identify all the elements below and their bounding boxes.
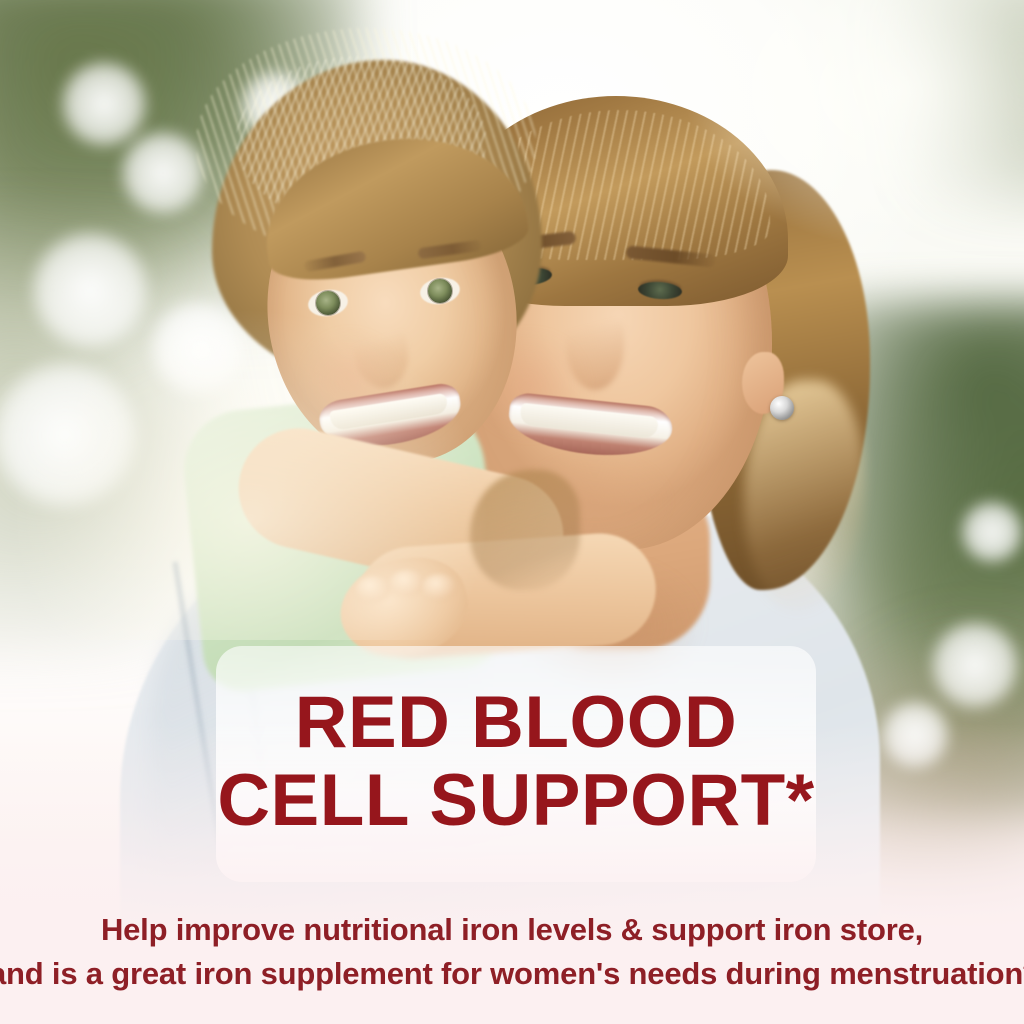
- advertisement-canvas: RED BLOOD CELL SUPPORT* Help improve nut…: [0, 0, 1024, 1024]
- headline-panel: RED BLOOD CELL SUPPORT*: [216, 646, 816, 882]
- child-iris-right: [428, 279, 452, 303]
- child-knuckle: [390, 570, 424, 596]
- child-knuckle: [356, 576, 390, 602]
- caption-line-1: Help improve nutritional iron levels & s…: [101, 908, 923, 952]
- headline-line-2: CELL SUPPORT*: [217, 765, 814, 837]
- headline-line-1: RED BLOOD: [295, 687, 738, 759]
- child-iris-left: [316, 291, 340, 315]
- caption-line-2: and is a great iron supplement for women…: [0, 952, 1024, 996]
- caption-band: Help improve nutritional iron levels & s…: [0, 900, 1024, 1024]
- child-knuckle: [422, 574, 456, 600]
